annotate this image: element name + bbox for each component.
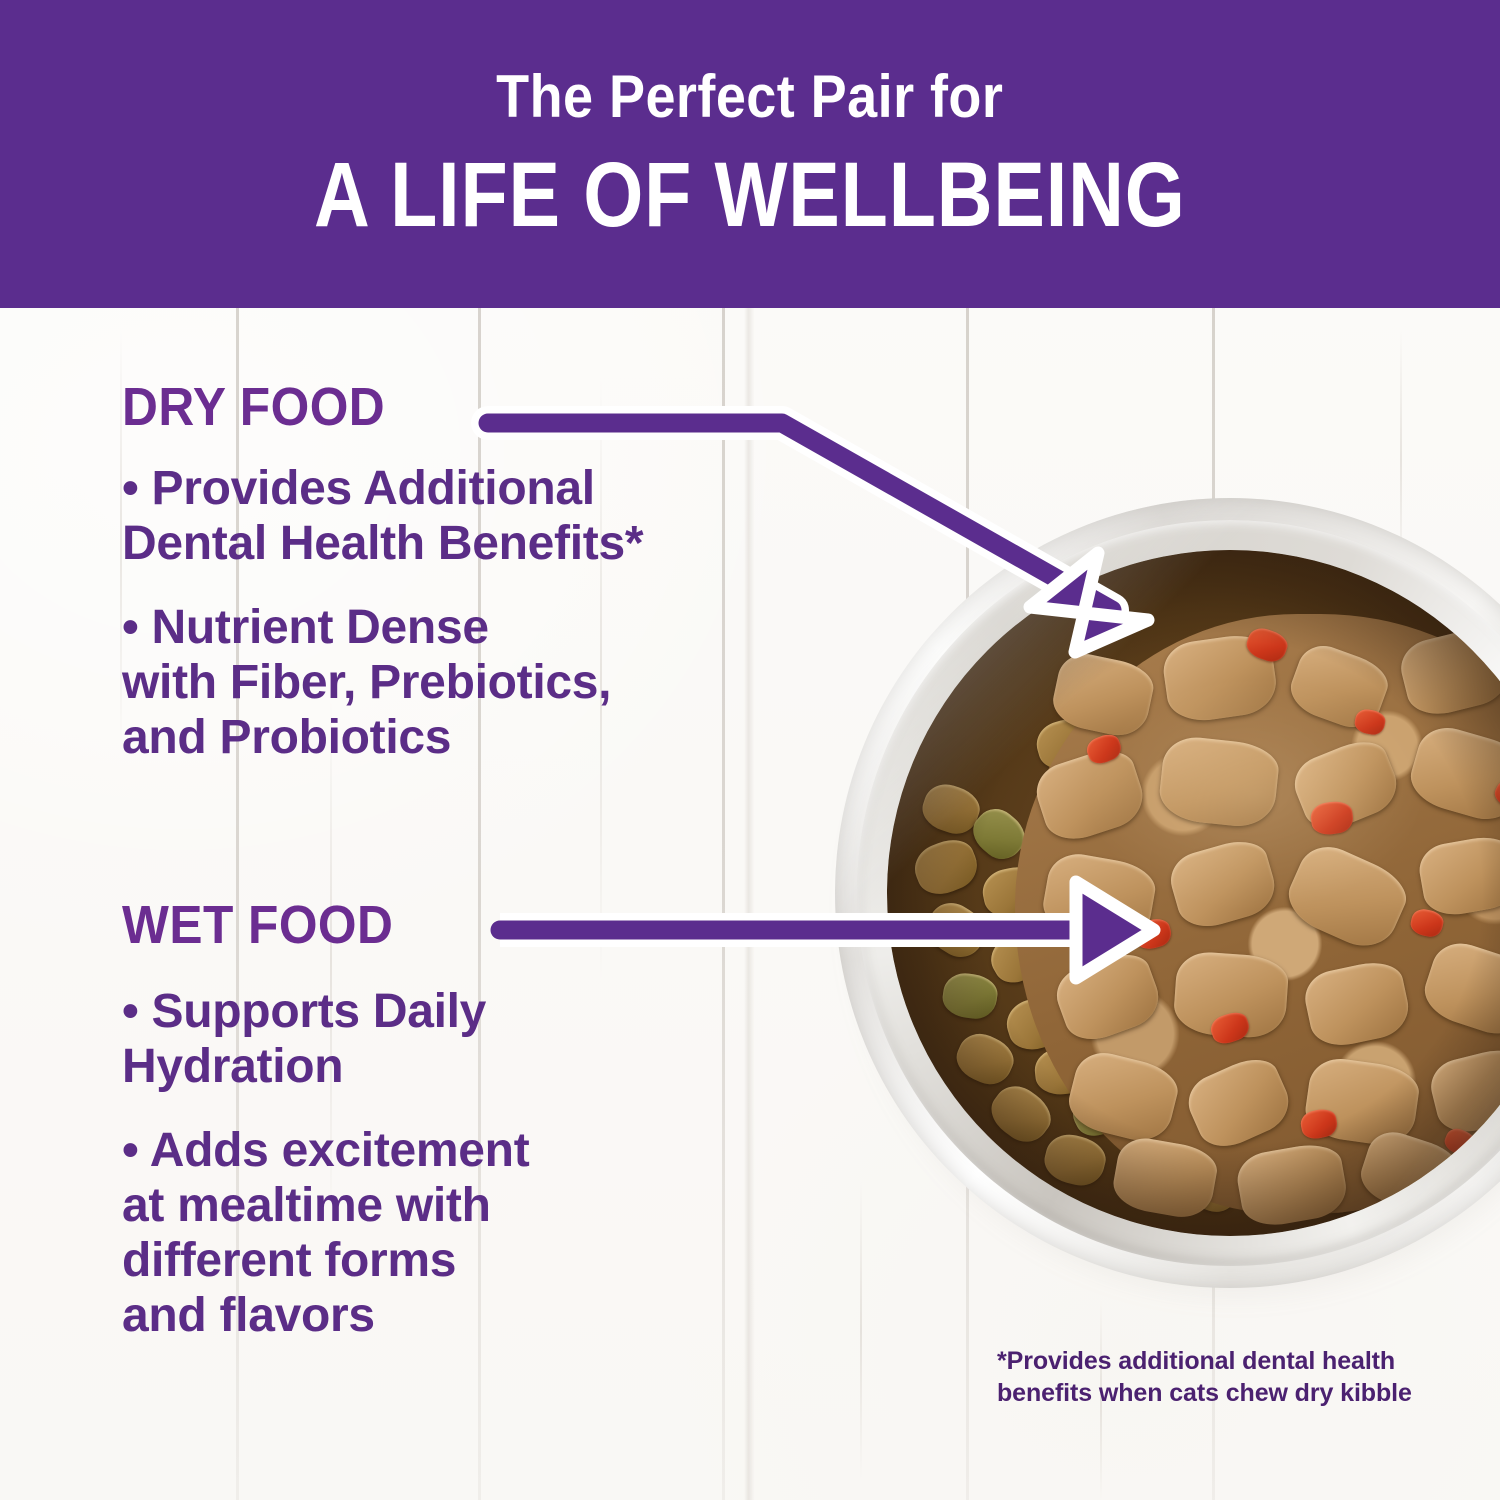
bullet-item: • Provides Additional Dental Health Bene… xyxy=(122,462,822,571)
dry-food-section: DRY FOOD • Provides Additional Dental He… xyxy=(122,380,822,796)
header-title: A LIFE OF WELLBEING xyxy=(314,149,1186,241)
dry-food-bullets: • Provides Additional Dental Health Bene… xyxy=(122,462,822,766)
bullet-item: • Nutrient Dense with Fiber, Prebiotics,… xyxy=(122,601,822,765)
footnote-text: *Provides additional dental health benef… xyxy=(997,1345,1457,1409)
pet-food-bowl-image xyxy=(835,498,1500,1298)
wet-food-section: WET FOOD xyxy=(122,898,822,952)
header-subtitle: The Perfect Pair for xyxy=(496,67,1003,127)
bullet-item: • Adds excitement at mealtime with diffe… xyxy=(122,1124,822,1343)
wet-food-bullets: • Supports Daily Hydration • Adds excite… xyxy=(122,985,822,1373)
dry-food-heading: DRY FOOD xyxy=(122,380,766,434)
promo-canvas: The Perfect Pair for A LIFE OF WELLBEING xyxy=(0,0,1500,1500)
header-banner: The Perfect Pair for A LIFE OF WELLBEING xyxy=(0,0,1500,308)
wet-food-heading: WET FOOD xyxy=(122,898,766,952)
bullet-item: • Supports Daily Hydration xyxy=(122,985,822,1094)
